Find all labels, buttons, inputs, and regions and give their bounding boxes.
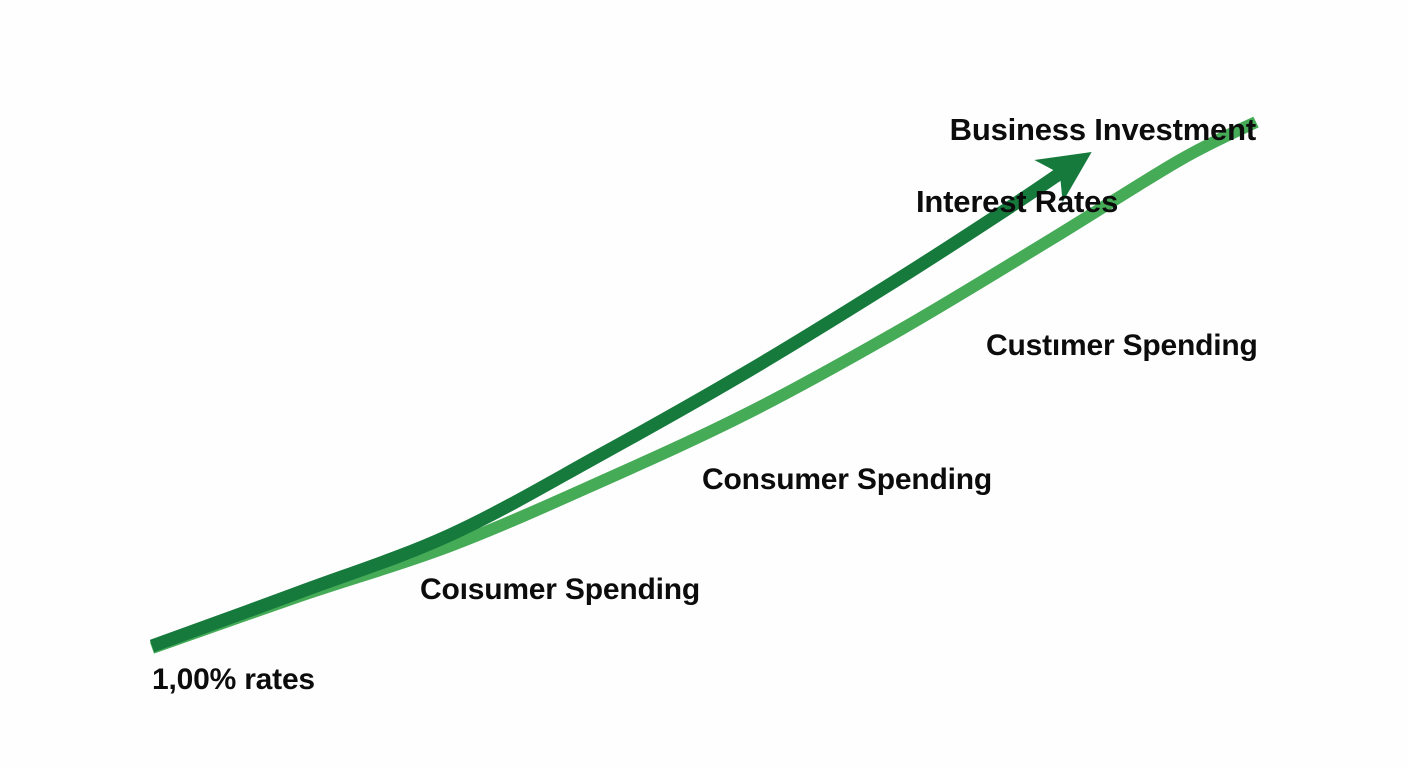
label-customer-spending: Custımer Spending <box>986 329 1258 364</box>
title-line-2: Interest Rates <box>916 184 1256 220</box>
title-line-1: Business Investment <box>950 112 1256 147</box>
label-consumer-spending-mid: Consumer Spending <box>702 463 992 498</box>
diagram-canvas: Business Investment Interest Rates Custı… <box>0 0 1408 768</box>
page-title: Business Investment Interest Rates <box>916 76 1256 292</box>
label-consumer-spending-low: Coısumer Spending <box>420 573 700 608</box>
label-origin-rates: 1,00% rates <box>152 663 315 698</box>
